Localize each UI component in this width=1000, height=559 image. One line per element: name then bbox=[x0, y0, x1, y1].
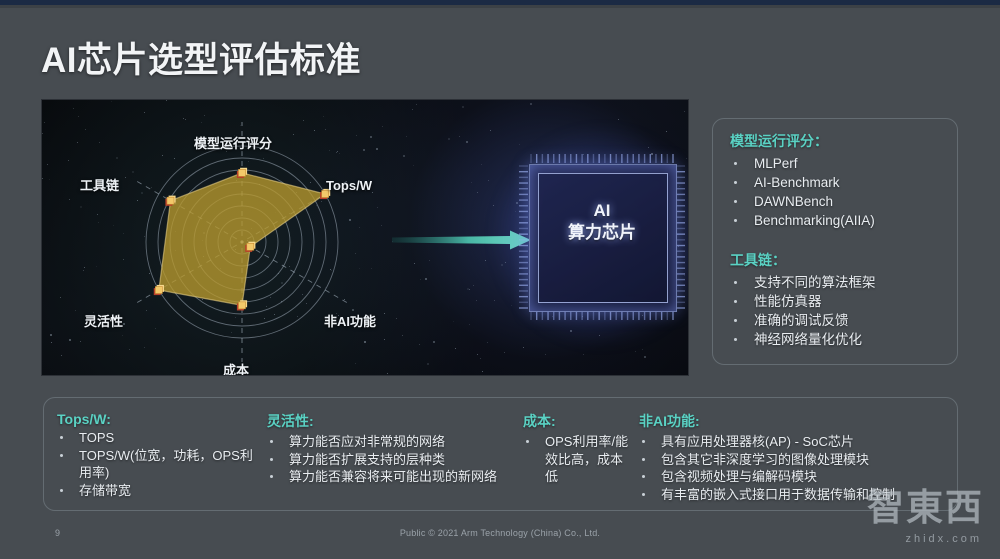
chip-label-line2: 算力芯片 bbox=[538, 222, 666, 244]
radar-chart: 模型运行评分 Tops/W 非AI功能 成本 灵活性 工具链 bbox=[72, 122, 412, 362]
list-item: TOPS bbox=[57, 429, 257, 447]
watermark-url: zhidx.com bbox=[905, 533, 982, 545]
list-item: 支持不同的算法框架 bbox=[730, 273, 876, 292]
radar-axis-label-5: 工具链 bbox=[80, 175, 119, 194]
radar-axis-label-4: 灵活性 bbox=[84, 311, 123, 330]
radar-axis-label-3: 成本 bbox=[223, 360, 249, 375]
column-heading: 灵活性: bbox=[267, 411, 507, 431]
column-heading: 非AI功能: bbox=[639, 411, 949, 431]
right-group-heading: 模型运行评分： bbox=[730, 131, 875, 151]
list-item: DAWNBench bbox=[730, 192, 875, 211]
page-title: AI芯片选型评估标准 bbox=[41, 32, 361, 83]
right-group-list: 支持不同的算法框架 性能仿真器 准确的调试反馈 神经网络量化优化 bbox=[730, 273, 876, 349]
watermark-logo: 智東西 bbox=[867, 477, 984, 531]
right-group-heading: 工具链： bbox=[730, 250, 876, 270]
radar-axis-label-1: Tops/W bbox=[326, 178, 372, 193]
list-item: 准确的调试反馈 bbox=[730, 311, 876, 330]
list-item: AI-Benchmark bbox=[730, 173, 875, 192]
top-accent-bar-secondary bbox=[0, 5, 1000, 8]
right-group-model-benchmark: 模型运行评分： MLPerf AI-Benchmark DAWNBench Be… bbox=[730, 131, 875, 230]
chip-label-line1: AI bbox=[538, 200, 666, 222]
list-item: 神经网络量化优化 bbox=[730, 330, 876, 349]
bottom-column-cost: 成本: OPS利用率/能效比高，成本低 bbox=[523, 411, 633, 486]
list-item: 性能仿真器 bbox=[730, 292, 876, 311]
list-item: 具有应用处理器核(AP) - SoC芯片 bbox=[639, 433, 949, 451]
slide: AI芯片选型评估标准 模型运行评分 Tops/W 非AI功能 成本 灵活性 工具… bbox=[0, 0, 1000, 559]
list-item: Benchmarking(AIIA) bbox=[730, 211, 875, 230]
bottom-column-flexibility: 灵活性: 算力能否应对非常规的网络 算力能否扩展支持的层种类 算力能否兼容将来可… bbox=[267, 411, 507, 486]
column-list: OPS利用率/能效比高，成本低 bbox=[523, 433, 633, 486]
list-item: 算力能否扩展支持的层种类 bbox=[267, 451, 507, 469]
column-list: TOPS TOPS/W(位宽，功耗，OPS利用率) 存储带宽 bbox=[57, 429, 257, 499]
list-item: TOPS/W(位宽，功耗，OPS利用率) bbox=[57, 447, 257, 482]
chip-label: AI 算力芯片 bbox=[538, 200, 666, 244]
right-group-list: MLPerf AI-Benchmark DAWNBench Benchmarki… bbox=[730, 154, 875, 230]
watermark: 智東西 zhidx.com bbox=[844, 489, 994, 551]
right-info-panel: 模型运行评分： MLPerf AI-Benchmark DAWNBench Be… bbox=[712, 118, 958, 365]
list-item: OPS利用率/能效比高，成本低 bbox=[523, 433, 633, 486]
bottom-criteria-panel: Tops/W: TOPS TOPS/W(位宽，功耗，OPS利用率) 存储带宽 灵… bbox=[43, 397, 958, 511]
list-item: 算力能否兼容将来可能出现的新网络 bbox=[267, 468, 507, 486]
list-item: MLPerf bbox=[730, 154, 875, 173]
hero-image-panel: 模型运行评分 Tops/W 非AI功能 成本 灵活性 工具链 bbox=[42, 100, 688, 375]
radar-axis-label-2: 非AI功能 bbox=[324, 311, 376, 330]
bottom-column-tops-per-watt: Tops/W: TOPS TOPS/W(位宽，功耗，OPS利用率) 存储带宽 bbox=[57, 411, 257, 499]
list-item: 存储带宽 bbox=[57, 482, 257, 500]
ai-chip-graphic: AI 算力芯片 bbox=[507, 142, 688, 332]
column-heading: Tops/W: bbox=[57, 411, 257, 427]
list-item: 包含其它非深度学习的图像处理模块 bbox=[639, 451, 949, 469]
list-item: 算力能否应对非常规的网络 bbox=[267, 433, 507, 451]
right-group-toolchain: 工具链： 支持不同的算法框架 性能仿真器 准确的调试反馈 神经网络量化优化 bbox=[730, 250, 876, 349]
column-heading: 成本: bbox=[523, 411, 633, 431]
column-list: 算力能否应对非常规的网络 算力能否扩展支持的层种类 算力能否兼容将来可能出现的新… bbox=[267, 433, 507, 486]
radar-axis-label-0: 模型运行评分 bbox=[194, 133, 272, 152]
